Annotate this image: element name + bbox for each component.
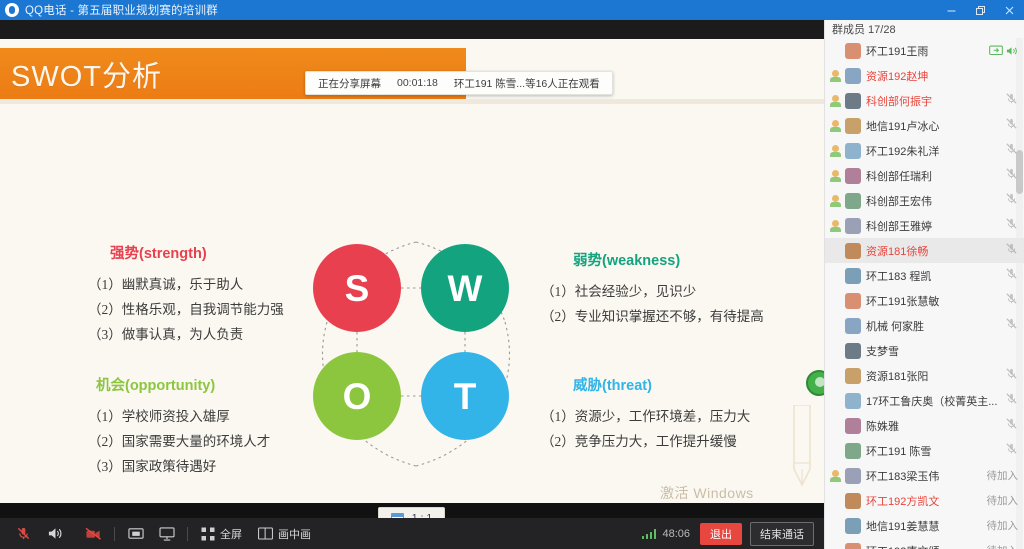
member-name: 地信191卢冰心: [866, 118, 1005, 134]
member-status: 待加入: [987, 468, 1019, 483]
avatar: [845, 193, 861, 209]
mic-muted-icon: [1005, 367, 1018, 380]
member-row[interactable]: 环工192朱礼洋: [825, 138, 1024, 163]
member-mic-muted-icon: [1005, 417, 1018, 435]
member-name: 环工192朱礼洋: [866, 143, 1005, 159]
hangup-button[interactable]: 结束通话: [750, 522, 814, 546]
member-name: 科创部王雅婷: [866, 218, 1005, 234]
member-mic-muted-icon: [1005, 267, 1018, 285]
member-status: 待加入: [987, 543, 1019, 549]
member-prefix-slot: [829, 344, 843, 358]
opportunity-line-3: （3）国家政策待遇好: [88, 454, 270, 479]
camera-muted-icon: [85, 527, 102, 541]
window-titlebar: QQ电话 - 第五届职业规划赛的培训群: [0, 0, 1024, 20]
pencil-doodle-icon: [784, 405, 818, 491]
avatar: [845, 243, 861, 259]
mic-muted-icon: [1005, 192, 1018, 205]
member-row[interactable]: 机械 何家胜: [825, 313, 1024, 338]
member-name: 环工191张慧敏: [866, 293, 1005, 309]
screen-icon: [391, 513, 404, 519]
avatar: [845, 343, 861, 359]
member-name: 科创部王宏伟: [866, 193, 1005, 209]
member-name: 资源181张阳: [866, 368, 1005, 384]
qq-logo-icon: [5, 3, 19, 17]
avatar: [845, 393, 861, 409]
avatar: [845, 418, 861, 434]
member-row[interactable]: 科创部任瑞利: [825, 163, 1024, 188]
opportunity-heading: 机会(opportunity): [96, 374, 270, 395]
member-row[interactable]: 环工192唐文颂待加入: [825, 538, 1024, 549]
member-row[interactable]: 科创部王雅婷: [825, 213, 1024, 238]
member-mic-muted-icon: [1005, 167, 1018, 185]
mic-muted-icon: [1005, 242, 1018, 255]
member-mic-muted-icon: [1005, 142, 1018, 160]
shared-slide: SWOT分析: [0, 39, 824, 503]
member-name: 科创部任瑞利: [866, 168, 1005, 184]
qq-call-window: QQ电话 - 第五届职业规划赛的培训群 SWOT分析: [0, 0, 1024, 549]
member-row[interactable]: 环工183 程凯: [825, 263, 1024, 288]
member-prefix-slot: [829, 544, 843, 549]
member-row[interactable]: 地信191姜慧慧待加入: [825, 513, 1024, 538]
strength-heading: 强势(strength): [110, 242, 284, 263]
restore-button[interactable]: [966, 0, 995, 20]
avatar: [845, 218, 861, 234]
mic-muted-icon: [1005, 267, 1018, 280]
raise-hand-icon: [829, 194, 843, 208]
weakness-heading: 弱势(weakness): [573, 249, 764, 270]
toolbar-divider-2: [187, 527, 188, 541]
swot-block-weakness: 弱势(weakness) （1）社会经验少，见识少 （2）专业知识掌握还不够，有…: [541, 249, 764, 329]
member-row[interactable]: 科创部王宏伟: [825, 188, 1024, 213]
banner-underline: [0, 99, 824, 104]
member-row[interactable]: 环工183梁玉伟待加入: [825, 463, 1024, 488]
raise-hand-icon: [829, 69, 843, 83]
member-row[interactable]: 陈姝雅: [825, 413, 1024, 438]
close-button[interactable]: [995, 0, 1024, 20]
sharing-status-bar: 正在分享屏幕 00:01:18 环工191 陈雪...等16人正在观看: [305, 71, 613, 95]
mic-muted-icon: [1005, 117, 1018, 130]
whiteboard-icon: [159, 527, 175, 541]
raise-hand-icon: [829, 144, 843, 158]
swot-circle-t: T: [421, 352, 509, 440]
picture-in-picture-label: 画中画: [278, 526, 311, 542]
member-name: 环工192方凯文: [866, 493, 983, 509]
member-prefix-slot: [829, 519, 843, 533]
avatar: [845, 468, 861, 484]
member-name: 陈姝雅: [866, 418, 1005, 434]
shared-screen-stage[interactable]: SWOT分析: [0, 20, 824, 518]
member-status: 待加入: [987, 493, 1019, 508]
whiteboard-button[interactable]: [151, 518, 182, 549]
mic-muted-icon: [1005, 217, 1018, 230]
member-name: 机械 何家胜: [866, 318, 1005, 334]
member-panel-header: 群成员 17/28: [825, 20, 1024, 38]
member-name: 环工191 陈雪: [866, 443, 1005, 459]
picture-in-picture-button[interactable]: 画中画: [250, 518, 319, 549]
member-mic-muted-icon: [1005, 117, 1018, 135]
raise-hand-icon: [829, 94, 843, 108]
member-prefix-slot: [829, 294, 843, 308]
swot-circle-w: W: [421, 244, 509, 332]
mic-muted-icon: [1005, 317, 1018, 330]
opportunity-line-2: （2）国家需要大量的环境人才: [88, 429, 270, 454]
avatar: [845, 443, 861, 459]
member-row[interactable]: 资源181徐畅: [825, 238, 1024, 263]
avatar: [845, 543, 861, 549]
member-name: 资源181徐畅: [866, 243, 1005, 259]
zoom-ratio-value: 1 : 1: [412, 512, 432, 519]
member-status: 待加入: [987, 518, 1019, 533]
mic-muted-icon: [1005, 92, 1018, 105]
member-row[interactable]: 环工191 陈雪: [825, 438, 1024, 463]
member-name: 17环工鲁庆奥（校菁英主...: [866, 393, 1005, 409]
member-prefix-slot: [829, 394, 843, 408]
windows-activation-watermark: 激活 Windows 转到"设置"以激活 Windows。: [660, 483, 784, 503]
avatar: [845, 168, 861, 184]
member-name: 环工183 程凯: [866, 268, 1005, 284]
fullscreen-icon: [201, 527, 215, 541]
window-title: QQ电话 - 第五届职业规划赛的培训群: [25, 2, 218, 18]
mic-muted-icon: [1005, 167, 1018, 180]
screen-share-active-icon: [989, 45, 1003, 57]
weakness-line-1: （1）社会经验少，见识少: [541, 279, 764, 304]
member-prefix-slot: [829, 494, 843, 508]
fullscreen-label: 全屏: [220, 526, 242, 542]
strength-line-3: （3）做事认真，为人负责: [88, 322, 284, 347]
member-row[interactable]: 17环工鲁庆奥（校菁英主...: [825, 388, 1024, 413]
member-row[interactable]: 资源192赵坤: [825, 63, 1024, 88]
member-prefix-slot: [829, 269, 843, 283]
member-mic-muted-icon: [1005, 292, 1018, 310]
sharing-elapsed-time: 00:01:18: [397, 77, 438, 89]
avatar: [845, 93, 861, 109]
speaking-indicator: [989, 45, 1018, 57]
raise-hand-icon: [829, 169, 843, 183]
member-prefix-slot: [829, 244, 843, 258]
member-name: 支梦雪: [866, 343, 1018, 359]
share-screen-icon: [128, 527, 144, 541]
microphone-muted-icon: [16, 526, 31, 541]
member-mic-muted-icon: [1005, 242, 1018, 260]
call-toolbar: 全屏 画中画 48:06 退出 结束通话: [0, 518, 824, 549]
avatar: [845, 43, 861, 59]
weakness-line-2: （2）专业知识掌握还不够，有待提高: [541, 304, 764, 329]
member-panel: 群成员 17/28 环工191王雨资源192赵坤科创部何振宇地信191卢冰心环工…: [824, 20, 1024, 549]
threat-heading: 威胁(threat): [573, 374, 750, 395]
member-prefix-slot: [829, 44, 843, 58]
member-mic-muted-icon: [1005, 392, 1018, 410]
swot-block-opportunity: 机会(opportunity) （1）学校师资投入雄厚 （2）国家需要大量的环境…: [88, 374, 270, 479]
threat-line-1: （1）资源少，工作环境差，压力大: [541, 404, 750, 429]
swot-block-threat: 威胁(threat) （1）资源少，工作环境差，压力大 （2）竞争压力大，工作提…: [541, 374, 750, 454]
member-mic-muted-icon: [1005, 367, 1018, 385]
avatar: [845, 293, 861, 309]
mic-muted-icon: [1005, 392, 1018, 405]
stage-top-letterbox: [0, 20, 824, 39]
raise-hand-icon: [829, 469, 843, 483]
raise-hand-icon: [829, 119, 843, 133]
watermark-line-1: 激活 Windows: [660, 483, 784, 503]
member-row[interactable]: 环工191王雨: [825, 38, 1024, 63]
strength-line-1: （1）幽默真诚，乐于助人: [88, 272, 284, 297]
swot-diagram: S W O T: [305, 234, 527, 474]
picture-in-picture-icon: [258, 527, 273, 540]
avatar: [845, 118, 861, 134]
swot-circle-o: O: [313, 352, 401, 440]
fullscreen-button[interactable]: 全屏: [193, 518, 250, 549]
avatar: [845, 68, 861, 84]
member-name: 环工183梁玉伟: [866, 468, 983, 484]
member-prefix-slot: [829, 369, 843, 383]
member-mic-muted-icon: [1005, 442, 1018, 460]
member-name: 地信191姜慧慧: [866, 518, 983, 534]
member-name: 科创部何振宇: [866, 93, 1005, 109]
zoom-ratio-control[interactable]: 1 : 1: [378, 507, 445, 518]
member-row[interactable]: 科创部何振宇: [825, 88, 1024, 113]
avatar: [845, 493, 861, 509]
share-screen-button[interactable]: [120, 518, 151, 549]
speaker-icon: [47, 526, 63, 541]
member-row[interactable]: 支梦雪: [825, 338, 1024, 363]
member-name: 环工192唐文颂: [866, 543, 983, 549]
member-prefix-slot: [829, 319, 843, 333]
sharing-viewers-label: 环工191 陈雪...等16人正在观看: [454, 76, 600, 91]
threat-line-2: （2）竞争压力大，工作提升缓慢: [541, 429, 750, 454]
member-prefix-slot: [829, 444, 843, 458]
mic-muted-icon: [1005, 442, 1018, 455]
minimize-icon: [946, 5, 957, 16]
member-row[interactable]: 环工191张慧敏: [825, 288, 1024, 313]
minimize-button[interactable]: [937, 0, 966, 20]
sharing-status-label: 正在分享屏幕: [318, 76, 381, 91]
member-row[interactable]: 资源181张阳: [825, 363, 1024, 388]
slide-title: SWOT分析: [11, 53, 162, 95]
strength-line-2: （2）性格乐观，自我调节能力强: [88, 297, 284, 322]
raise-hand-icon: [829, 219, 843, 233]
member-mic-muted-icon: [1005, 217, 1018, 235]
toolbar-divider-1: [114, 527, 115, 541]
volume-active-icon: [1006, 45, 1018, 57]
signal-bars-icon: [642, 528, 657, 539]
member-list: 环工191王雨资源192赵坤科创部何振宇地信191卢冰心环工192朱礼洋科创部任…: [825, 38, 1024, 549]
mic-muted-icon: [1005, 142, 1018, 155]
member-row[interactable]: 地信191卢冰心: [825, 113, 1024, 138]
member-name: 资源192赵坤: [866, 68, 1018, 84]
mic-muted-icon: [1005, 292, 1018, 305]
swot-block-strength: 强势(strength) （1）幽默真诚，乐于助人 （2）性格乐观，自我调节能力…: [88, 242, 284, 347]
member-mic-muted-icon: [1005, 92, 1018, 110]
camera-muted-button[interactable]: [78, 518, 109, 549]
member-row[interactable]: 环工192方凯文待加入: [825, 488, 1024, 513]
exit-button[interactable]: 退出: [700, 523, 742, 545]
member-name: 环工191王雨: [866, 43, 989, 59]
call-duration: 48:06: [662, 528, 690, 540]
swot-circle-s: S: [313, 244, 401, 332]
opportunity-line-1: （1）学校师资投入雄厚: [88, 404, 270, 429]
member-mic-muted-icon: [1005, 192, 1018, 210]
restore-icon: [975, 5, 986, 16]
speaker-button[interactable]: [39, 518, 70, 549]
avatar: [845, 268, 861, 284]
microphone-muted-button[interactable]: [8, 518, 39, 549]
mic-muted-icon: [1005, 417, 1018, 430]
member-mic-muted-icon: [1005, 317, 1018, 335]
avatar: [845, 143, 861, 159]
avatar: [845, 318, 861, 334]
avatar: [845, 368, 861, 384]
close-icon: [1004, 5, 1015, 16]
avatar: [845, 518, 861, 534]
member-prefix-slot: [829, 419, 843, 433]
